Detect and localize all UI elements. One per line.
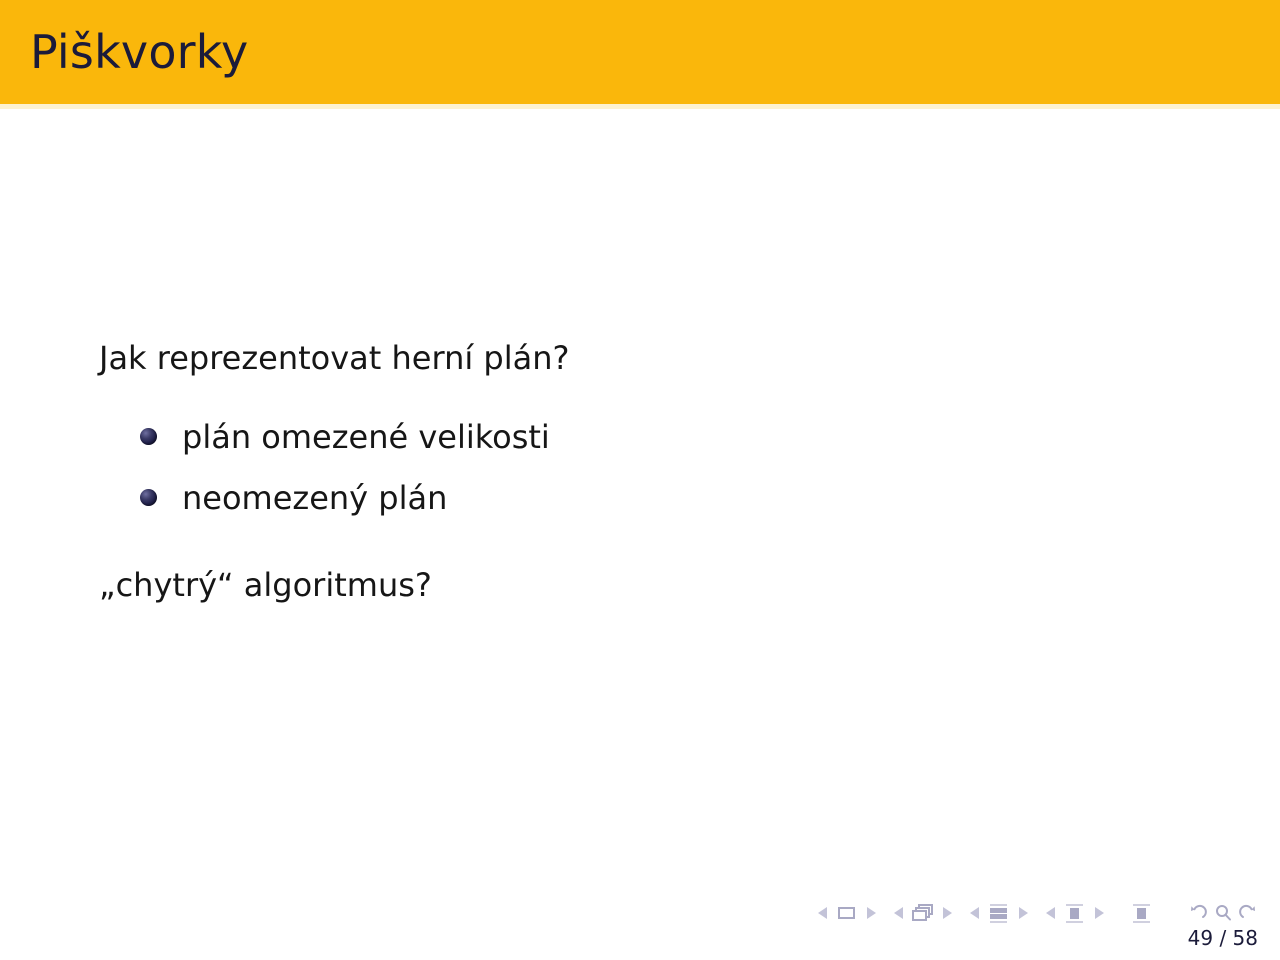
frame-symbol-icon[interactable] xyxy=(910,902,936,924)
nav-group-frame[interactable] xyxy=(894,902,952,924)
next-section-icon[interactable] xyxy=(1095,907,1104,919)
document-symbol-icon[interactable] xyxy=(1129,902,1155,924)
list-item: plán omezené velikosti xyxy=(140,406,550,467)
nav-utility-icons[interactable] xyxy=(1188,903,1258,923)
bullet-ball-icon xyxy=(140,489,157,506)
nav-group-subsection[interactable] xyxy=(970,902,1028,924)
next-frame-icon[interactable] xyxy=(943,907,952,919)
slide-header-bar: Piškvorky xyxy=(0,0,1280,104)
prev-slide-icon[interactable] xyxy=(818,907,827,919)
list-item: neomezený plán xyxy=(140,467,550,528)
search-icon[interactable] xyxy=(1213,903,1233,923)
lead-question-text: Jak reprezentovat herní plán? xyxy=(99,342,569,376)
next-slide-icon[interactable] xyxy=(867,907,876,919)
slide-content-area: Jak reprezentovat herní plán? plán omeze… xyxy=(0,110,1280,880)
next-subsection-icon[interactable] xyxy=(1019,907,1028,919)
beamer-navigation-bar[interactable] xyxy=(818,898,1258,928)
closing-question-text: „chytrý“ algoritmus? xyxy=(99,569,432,603)
bullet-ball-icon xyxy=(140,428,157,445)
back-icon[interactable] xyxy=(1188,903,1208,923)
subsection-symbol-icon[interactable] xyxy=(986,902,1012,924)
header-underline-divider xyxy=(0,104,1280,109)
prev-subsection-icon[interactable] xyxy=(970,907,979,919)
prev-section-icon[interactable] xyxy=(1046,907,1055,919)
list-item-label: neomezený plán xyxy=(182,482,447,514)
section-symbol-icon[interactable] xyxy=(1062,902,1088,924)
nav-group-section[interactable] xyxy=(1046,902,1104,924)
page-indicator: 49 / 58 xyxy=(1188,926,1258,950)
prev-frame-icon[interactable] xyxy=(894,907,903,919)
nav-group-document[interactable] xyxy=(1122,902,1162,924)
bullet-list: plán omezené velikosti neomezený plán xyxy=(140,406,550,528)
nav-group-slide[interactable] xyxy=(818,902,876,924)
page-title: Piškvorky xyxy=(30,29,248,75)
forward-icon[interactable] xyxy=(1238,903,1258,923)
list-item-label: plán omezené velikosti xyxy=(182,421,550,453)
slide-symbol-icon[interactable] xyxy=(834,902,860,924)
